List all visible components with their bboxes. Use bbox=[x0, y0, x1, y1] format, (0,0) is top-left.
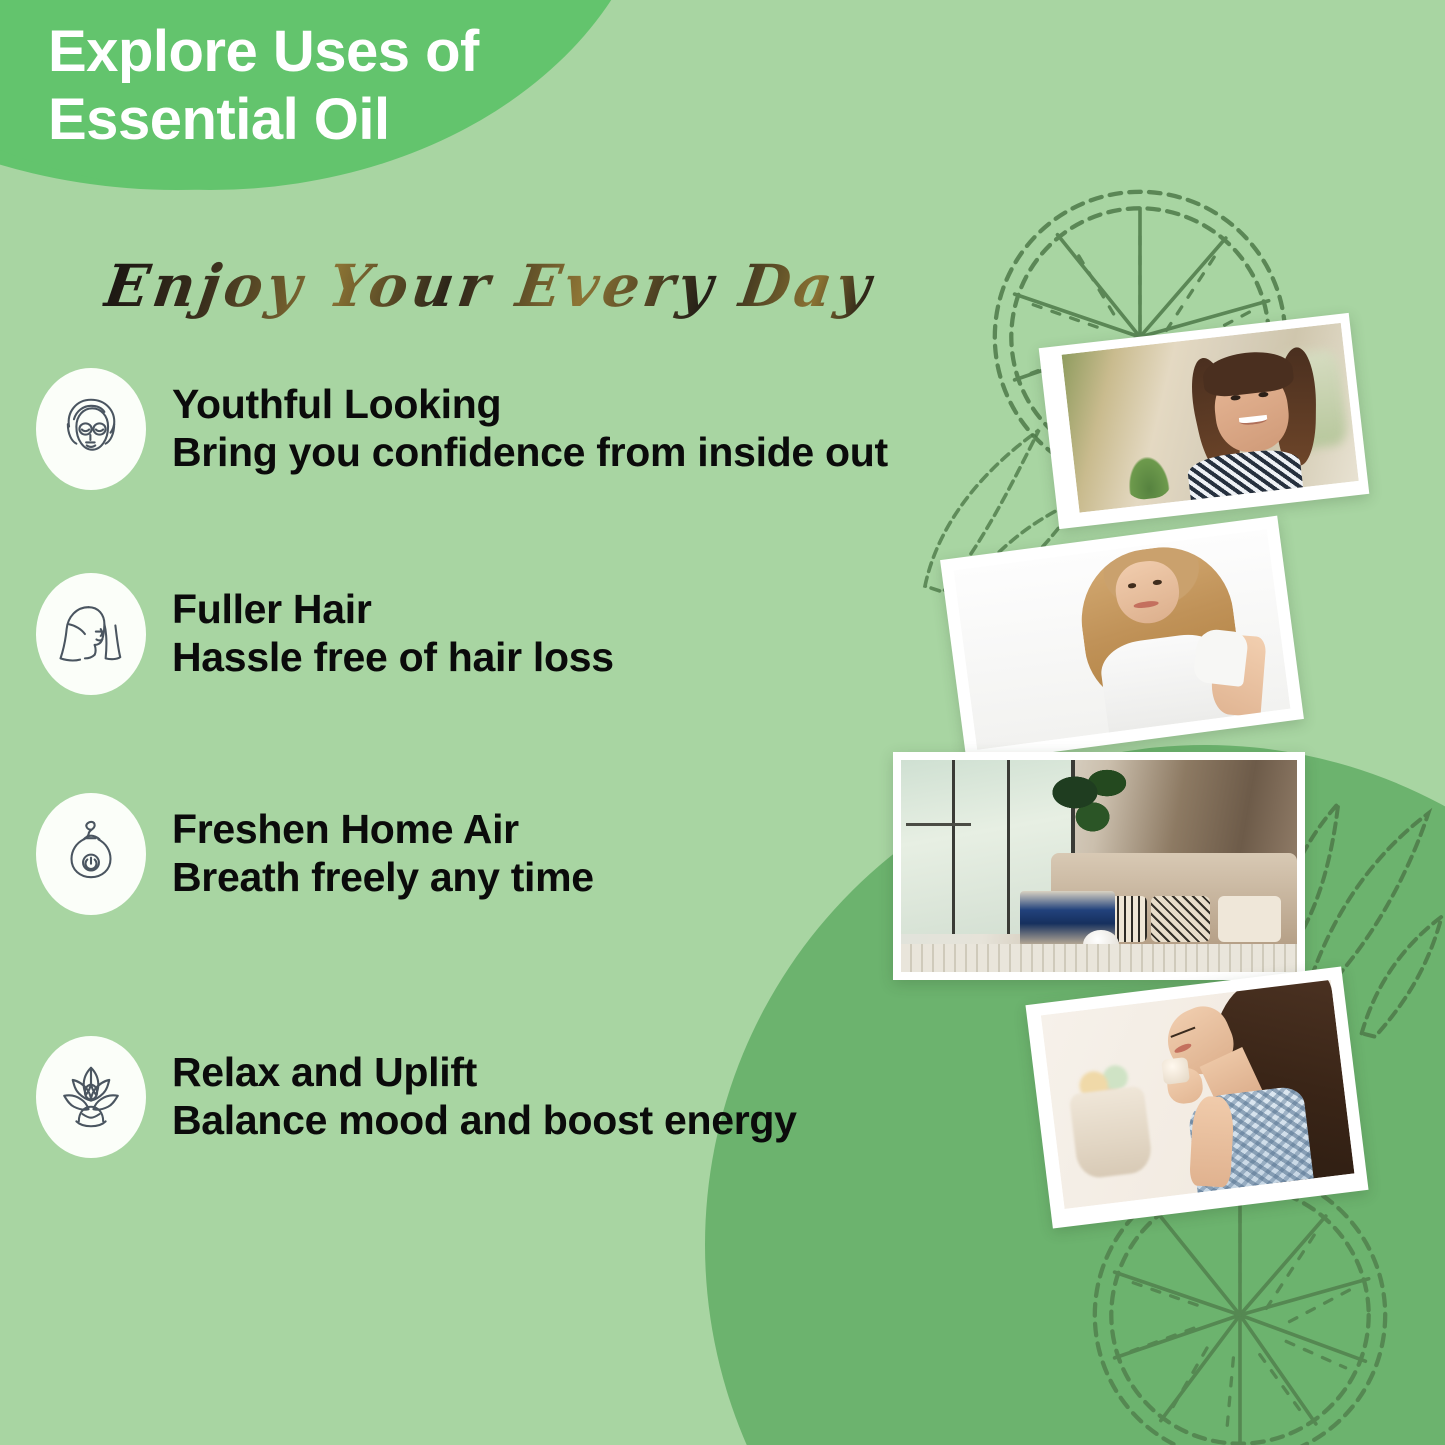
feature-item-fuller-hair: Fuller Hair Hassle free of hair loss bbox=[36, 573, 614, 695]
feature-title: Freshen Home Air bbox=[172, 806, 594, 854]
tagline-script-text: Enjoy Your Every Day bbox=[100, 252, 878, 320]
page-title-line2: Essential Oil bbox=[48, 86, 688, 154]
poster-canvas: Explore Uses of Essential Oil Enjoy Your… bbox=[0, 0, 1445, 1445]
photo-living-room-with-diffuser bbox=[893, 752, 1305, 980]
photo-4-image bbox=[1041, 980, 1355, 1209]
page-title-line1: Explore Uses of bbox=[48, 18, 688, 86]
feature-subtitle: Balance mood and boost energy bbox=[172, 1097, 797, 1145]
face-mask-icon bbox=[36, 368, 146, 490]
feature-subtitle: Breath freely any time bbox=[172, 854, 594, 902]
photo-2-image bbox=[954, 529, 1291, 750]
photo-smiling-woman-indoors bbox=[1039, 313, 1370, 529]
feature-title: Fuller Hair bbox=[172, 586, 614, 634]
aroma-diffuser-icon bbox=[36, 793, 146, 915]
feature-item-youthful-looking: Youthful Looking Bring you confidence fr… bbox=[36, 368, 888, 490]
long-hair-profile-icon bbox=[36, 573, 146, 695]
feature-subtitle: Hassle free of hair loss bbox=[172, 634, 614, 682]
page-title: Explore Uses of Essential Oil bbox=[48, 18, 688, 155]
photo-1-image bbox=[1062, 323, 1359, 513]
feature-item-relax-and-uplift: Relax and Uplift Balance mood and boost … bbox=[36, 1036, 797, 1158]
photo-woman-applying-perfume bbox=[1025, 966, 1368, 1228]
feature-title: Relax and Uplift bbox=[172, 1049, 797, 1097]
feature-item-freshen-home-air: Freshen Home Air Breath freely any time bbox=[36, 793, 594, 915]
lotus-meditation-icon bbox=[36, 1036, 146, 1158]
photo-blonde-wavy-hair-woman bbox=[940, 516, 1304, 764]
feature-title: Youthful Looking bbox=[172, 381, 888, 429]
photo-3-image bbox=[901, 760, 1297, 972]
feature-subtitle: Bring you confidence from inside out bbox=[172, 429, 888, 477]
